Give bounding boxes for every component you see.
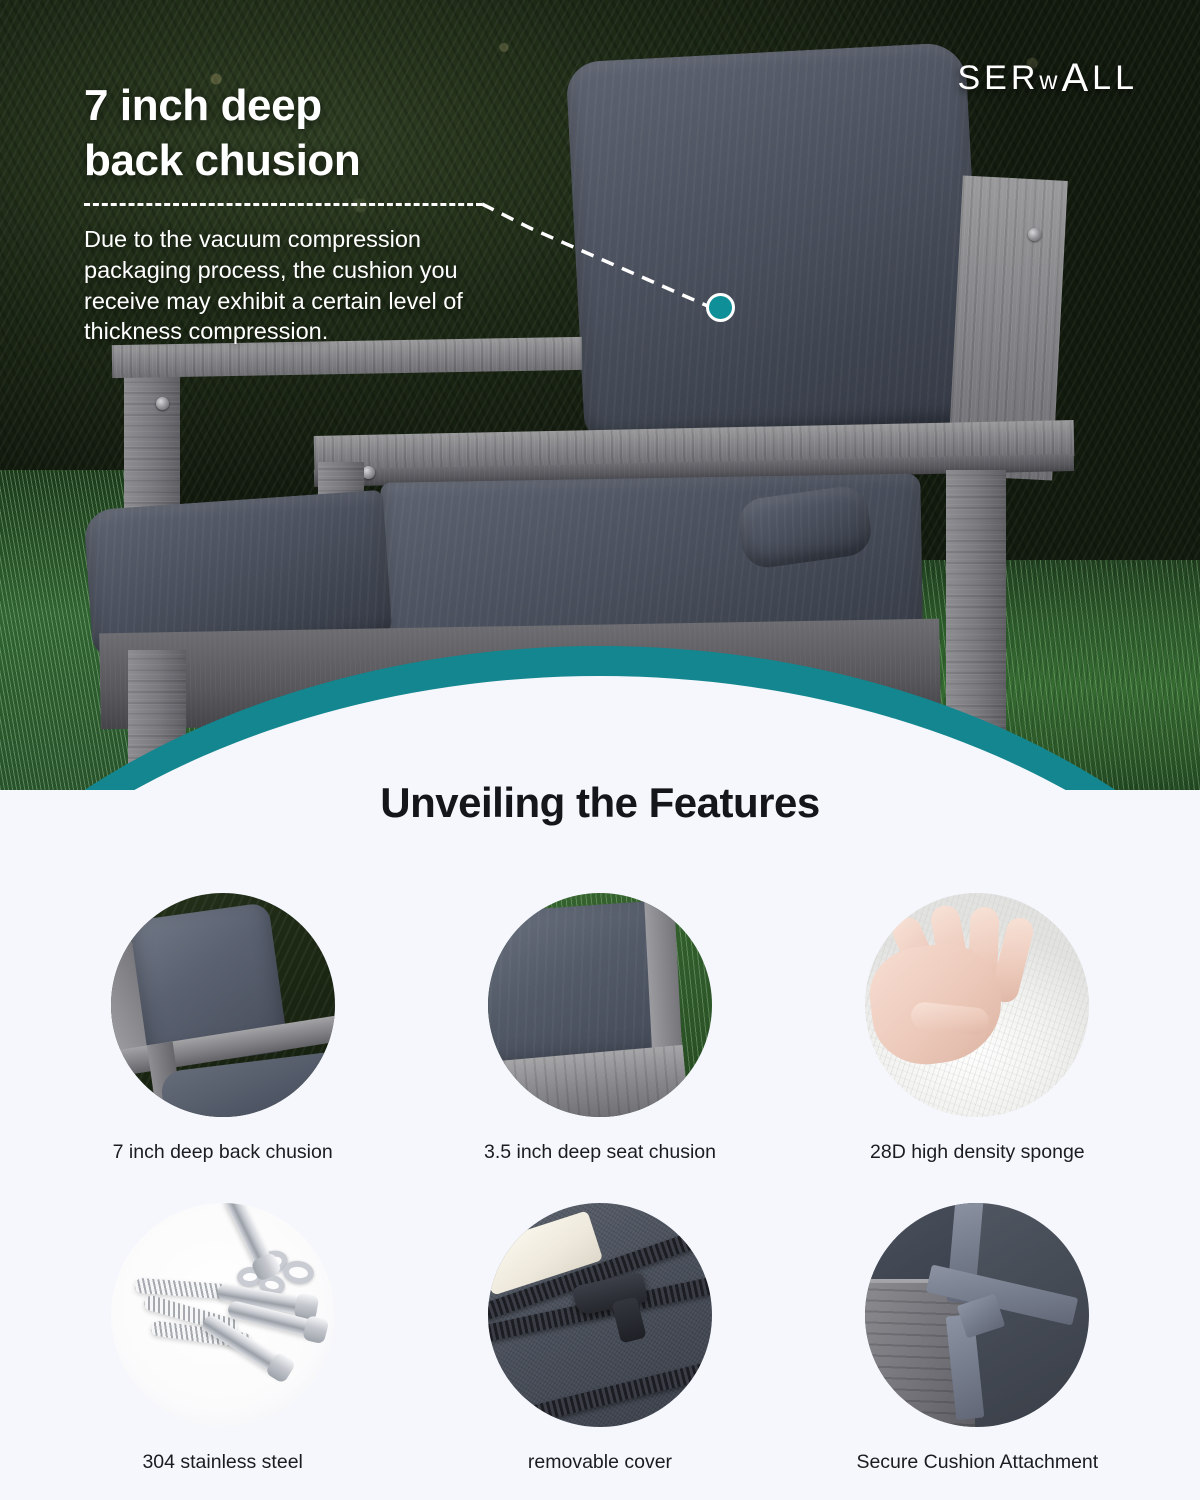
feature-item-back-cushion[interactable]: 7 inch deep back chusion <box>34 893 411 1203</box>
feature-label: Secure Cushion Attachment <box>856 1451 1098 1474</box>
hero-body-text: Due to the vacuum compression packaging … <box>84 224 534 347</box>
zipper-icon <box>488 1203 712 1427</box>
feature-grid: 7 inch deep back chusion 3.5 inch deep s… <box>0 893 1200 1500</box>
stainless-hardware-icon <box>111 1203 335 1427</box>
hero-title-line2: back chusion <box>84 133 554 188</box>
seat-cushion-photo-circle <box>488 893 712 1117</box>
foam-sponge-photo-circle <box>865 893 1089 1117</box>
cushion-tie-photo-circle <box>865 1203 1089 1427</box>
brand-logo-ser: SER <box>958 59 1040 97</box>
features-section: Unveiling the Features 7 inch deep back … <box>0 745 1200 1500</box>
stainless-hardware-photo-circle <box>111 1203 335 1427</box>
zipper-cover-photo-circle <box>488 1203 712 1427</box>
chair-screw-left <box>156 397 169 410</box>
feature-label: 28D high density sponge <box>870 1141 1085 1164</box>
callout-dot-marker <box>706 293 735 322</box>
feature-item-stainless-steel[interactable]: 304 stainless steel <box>34 1203 411 1500</box>
feature-label: 304 stainless steel <box>142 1451 302 1474</box>
chair-right-leg <box>946 470 1006 740</box>
seat-cushion-icon <box>488 893 712 1117</box>
hero-title-line1: 7 inch deep <box>84 78 554 133</box>
feature-item-cushion-attachment[interactable]: Secure Cushion Attachment <box>789 1203 1166 1500</box>
feature-item-removable-cover[interactable]: removable cover <box>411 1203 788 1500</box>
hero-title: 7 inch deep back chusion <box>84 78 554 189</box>
chair-screw-back <box>1028 228 1041 241</box>
back-cushion-icon <box>111 893 335 1117</box>
feature-label: 3.5 inch deep seat chusion <box>484 1141 716 1164</box>
foam-sponge-icon <box>865 893 1089 1117</box>
back-cushion-photo-circle <box>111 893 335 1117</box>
feature-label: removable cover <box>528 1451 672 1474</box>
feature-item-sponge[interactable]: 28D high density sponge <box>789 893 1166 1203</box>
feature-item-seat-cushion[interactable]: 3.5 inch deep seat chusion <box>411 893 788 1203</box>
brand-logo: SERwALL <box>958 56 1139 101</box>
back-cushion <box>565 42 984 442</box>
hero-dashed-divider <box>84 203 482 206</box>
features-title: Unveiling the Features <box>0 779 1200 827</box>
brand-logo-ll: LL <box>1092 59 1138 97</box>
cushion-tie-icon <box>865 1203 1089 1427</box>
brand-logo-w: w <box>1039 67 1061 95</box>
hero-section: SERwALL 7 inch deep back chusion Due to … <box>0 0 1200 790</box>
brand-logo-a: A <box>1061 56 1092 100</box>
product-infographic: SERwALL 7 inch deep back chusion Due to … <box>0 0 1200 1500</box>
feature-label: 7 inch deep back chusion <box>113 1141 333 1164</box>
